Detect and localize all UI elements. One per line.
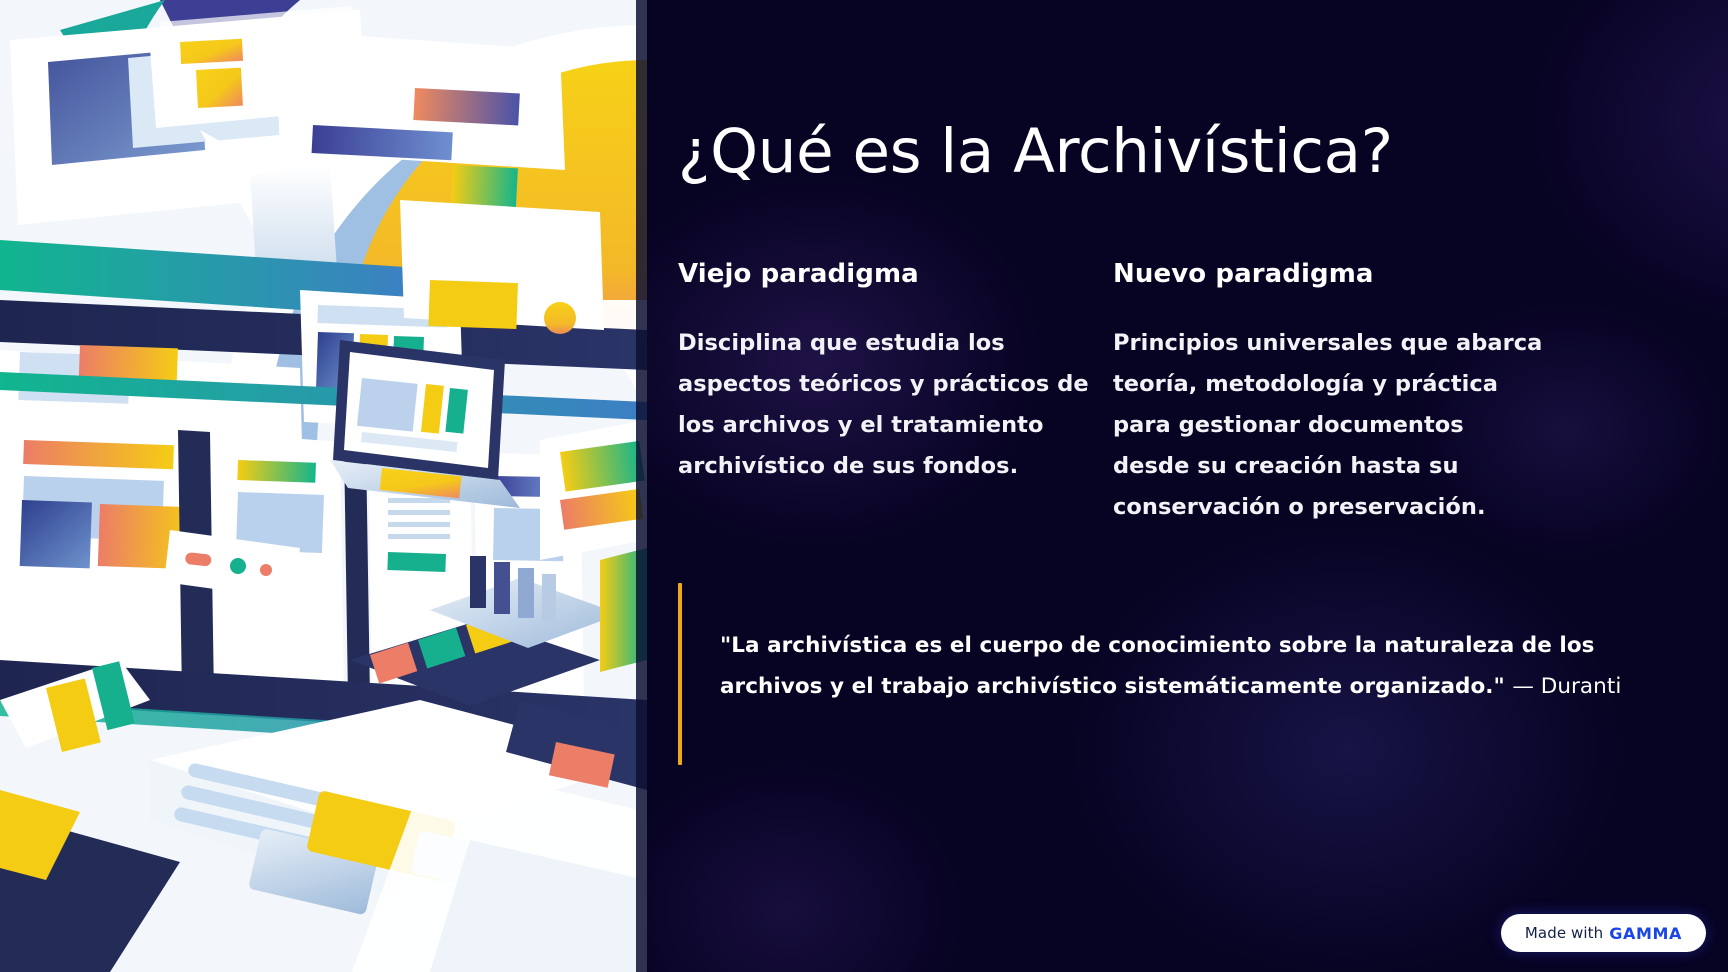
- column-nuevo-paradigma: Nuevo paradigma Principios universales q…: [1113, 258, 1547, 527]
- page-title: ¿Qué es la Archivística?: [678, 116, 1688, 188]
- quote-author: — Duranti: [1512, 674, 1621, 699]
- slide: ¿Qué es la Archivística? Viejo paradigma…: [0, 0, 1728, 972]
- column-heading-viejo: Viejo paradigma: [678, 258, 1112, 292]
- quote-text: "La archivística es el cuerpo de conocim…: [720, 633, 1595, 699]
- quote-block: "La archivística es el cuerpo de conocim…: [678, 583, 1698, 765]
- column-body-viejo: Disciplina que estudia los aspectos teór…: [678, 323, 1112, 487]
- made-with-gamma-badge[interactable]: Made with GAMMA: [1501, 914, 1706, 952]
- badge-made-with-label: Made with: [1525, 924, 1603, 942]
- column-body-nuevo: Principios universales que abarca teoría…: [1113, 323, 1547, 528]
- content-panel: ¿Qué es la Archivística? Viejo paradigma…: [647, 0, 1728, 972]
- column-viejo-paradigma: Viejo paradigma Disciplina que estudia l…: [678, 258, 1112, 527]
- abstract-archive-illustration: [0, 0, 647, 972]
- quote-text-container: "La archivística es el cuerpo de conocim…: [682, 583, 1698, 765]
- column-heading-nuevo: Nuevo paradigma: [1113, 258, 1547, 292]
- illustration-panel: [0, 0, 647, 972]
- paradigm-columns: Viejo paradigma Disciplina que estudia l…: [678, 258, 1688, 527]
- gamma-logo: GAMMA: [1609, 924, 1682, 943]
